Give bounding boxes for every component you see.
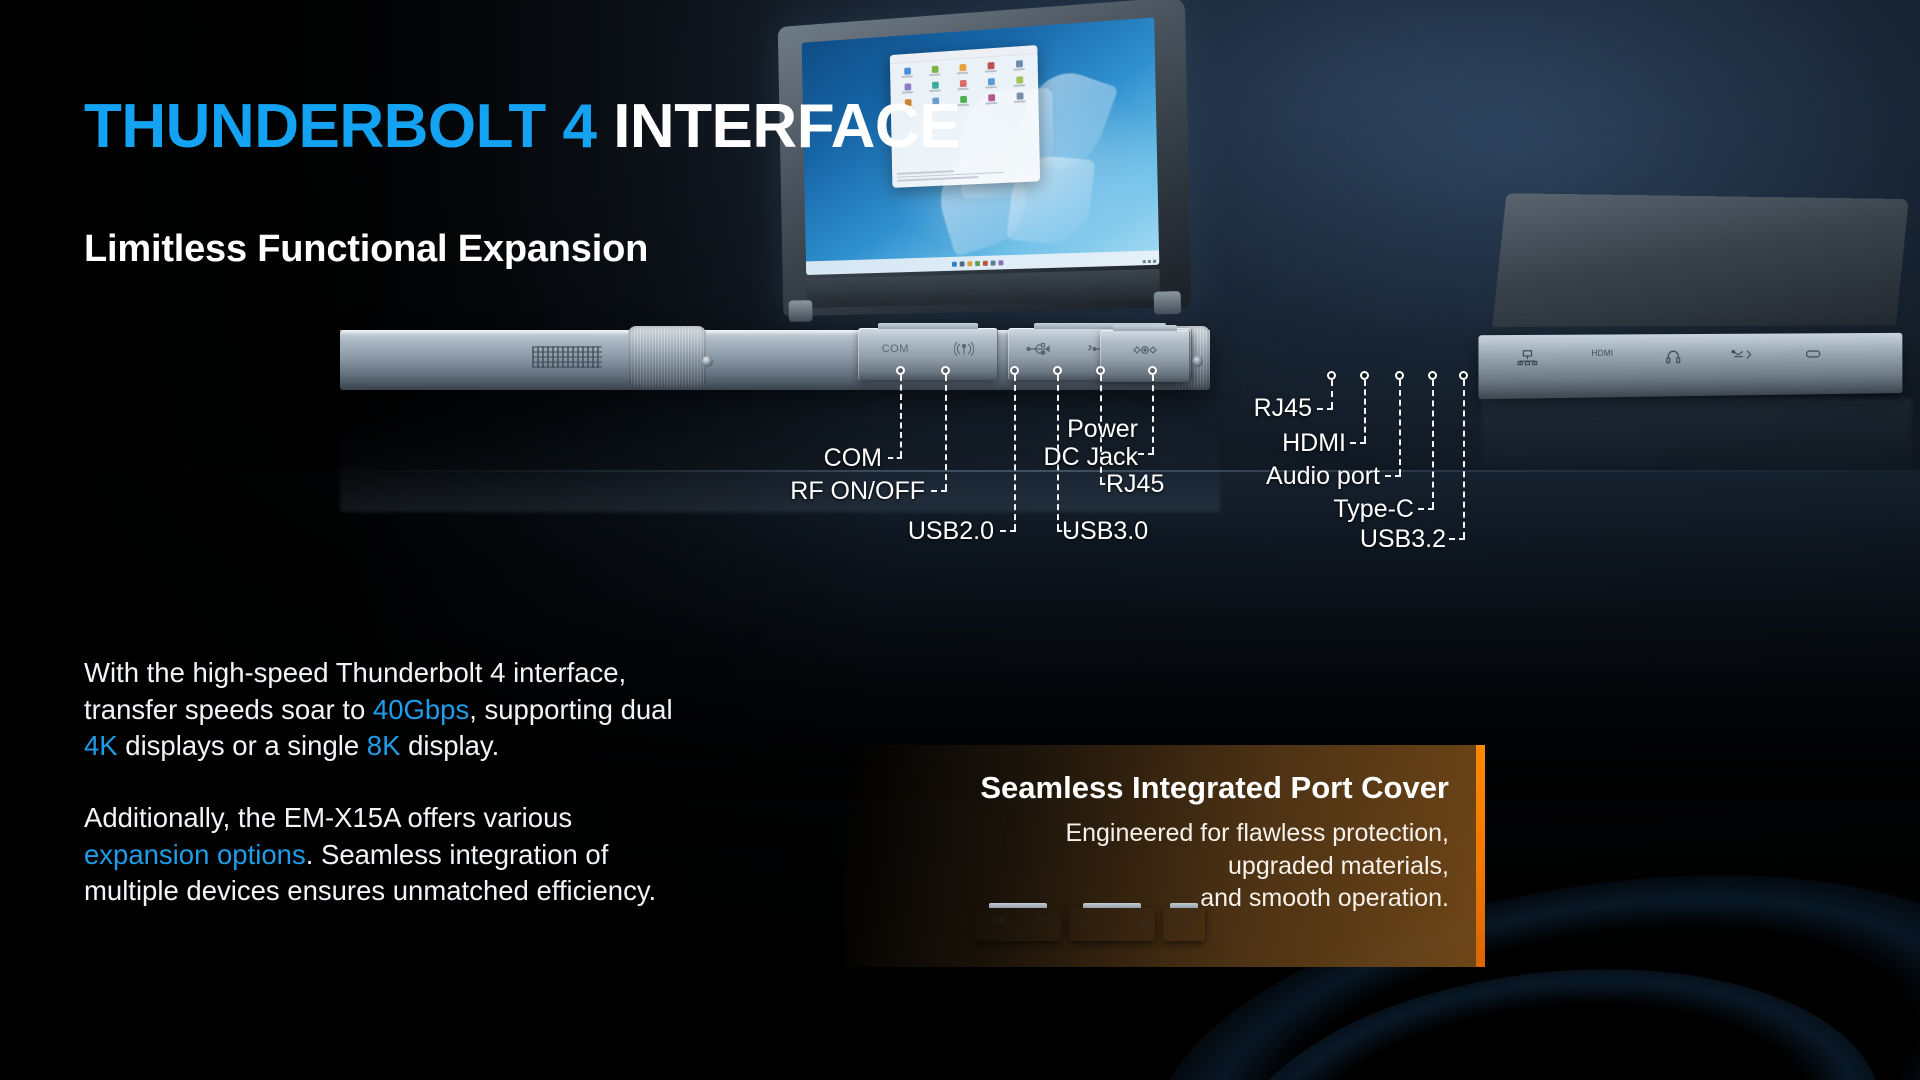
chassis-reflection <box>340 392 1220 512</box>
hinge-left <box>789 300 813 322</box>
p1-text-c: displays or a single <box>118 730 367 761</box>
secondary-laptop: HDMI <box>1478 193 1902 399</box>
p1-highlight-4k: 4K <box>84 730 118 761</box>
p1-text-b: , supporting dual <box>469 694 672 725</box>
port-cover-panel: COM((•)) ⟛SS⟛品 ◇C◇ Seamless Integrated P… <box>845 745 1485 967</box>
panel-body-line-2: upgraded materials, <box>1065 850 1449 883</box>
panel-tab <box>878 323 977 329</box>
p2-highlight-expansion-options: expansion options <box>84 839 306 870</box>
p1-highlight-40gbps: 40Gbps <box>373 694 469 725</box>
dialog-text-lines <box>897 166 1035 183</box>
screw-left <box>702 356 713 367</box>
hinge-barrel-left <box>628 326 706 388</box>
hdmi-port-label: HDMI <box>1591 349 1613 365</box>
laptop-port-strip: COM <box>340 330 1210 390</box>
usb-icon <box>1026 342 1052 356</box>
dc-power-icon <box>1130 343 1160 357</box>
secondary-laptop-reflection <box>1482 398 1912 508</box>
title-rest: INTERFACE <box>613 92 960 161</box>
p2-text-a: Additionally, the EM-X15A offers various <box>84 802 572 833</box>
panel-title: Seamless Integrated Port Cover <box>980 770 1449 806</box>
poster-stage: HDMI COM <box>0 0 1920 1080</box>
p1-text-d: display. <box>400 730 499 761</box>
title-highlight: THUNDERBOLT 4 <box>84 92 596 161</box>
paragraph-expansion: Additionally, the EM-X15A offers various… <box>84 800 704 910</box>
port-cover-1: COM((•)) <box>975 907 1061 941</box>
rf-antenna-icon <box>954 341 974 357</box>
panel-body-line-3: and smooth operation. <box>1065 882 1449 915</box>
headphone-icon <box>1665 348 1681 364</box>
page-title: THUNDERBOLT 4 INTERFACE <box>84 96 960 158</box>
typec-icon <box>1805 347 1822 361</box>
secondary-laptop-base: HDMI <box>1478 333 1902 399</box>
port-panel-com-rf[interactable]: COM <box>858 328 998 380</box>
hinge-right <box>1154 291 1181 314</box>
system-tray <box>1143 260 1156 263</box>
com-port-label: COM <box>882 343 909 355</box>
paragraph-thunderbolt: With the high-speed Thunderbolt 4 interf… <box>84 655 704 765</box>
ethernet-icon <box>1516 349 1539 366</box>
p1-highlight-8k: 8K <box>367 730 401 761</box>
secondary-laptop-lid <box>1492 193 1908 327</box>
page-subtitle: Limitless Functional Expansion <box>84 228 648 271</box>
panel-icon-row: COM <box>859 341 997 357</box>
vent-grille <box>532 346 602 368</box>
secondary-port-row: HDMI <box>1489 347 1846 366</box>
panel-tab <box>1113 325 1176 331</box>
panel-icon-row <box>1101 343 1189 357</box>
panel-accent-bar <box>1476 745 1485 967</box>
panel-body-line-1: Engineered for flawless protection, <box>1065 817 1449 850</box>
port-panel-power[interactable] <box>1100 330 1190 382</box>
usb-superspeed-icon <box>1732 348 1755 362</box>
panel-body: Engineered for flawless protection, upgr… <box>1065 817 1449 915</box>
